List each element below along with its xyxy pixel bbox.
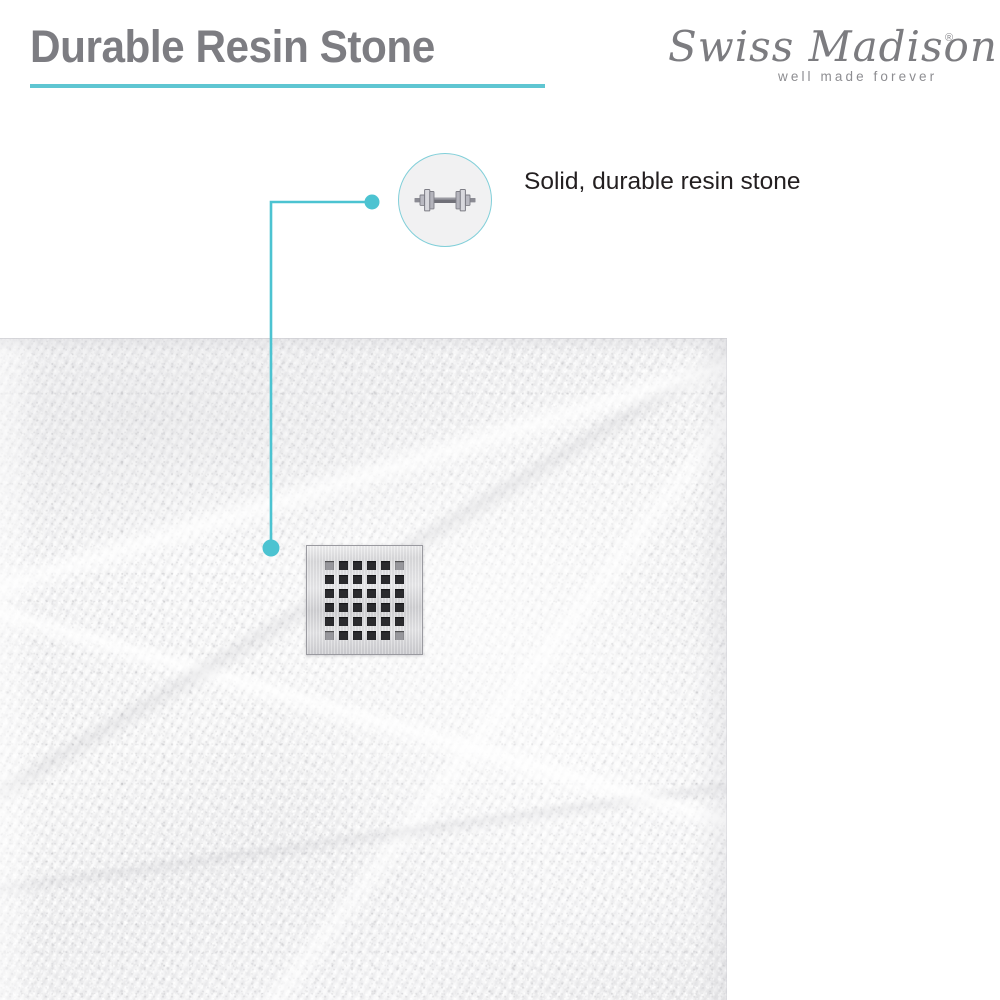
stone-grain-layer-a: [0, 338, 727, 1000]
drain-hole: [381, 617, 390, 626]
page-title: Durable Resin Stone: [30, 21, 435, 73]
drain-hole: [325, 575, 334, 584]
brand-name: Swiss Madison: [668, 22, 998, 71]
drain-hole: [353, 575, 362, 584]
drain-hole: [367, 603, 376, 612]
product-feature-graphic: Durable Resin Stone Swiss Madison ® well…: [0, 0, 1000, 1000]
brand-logo: Swiss Madison ® well made forever: [668, 22, 968, 90]
drain-hole-grid: [325, 561, 404, 640]
drain-hole: [339, 617, 348, 626]
drain-hole: [339, 575, 348, 584]
drain-hole: [395, 575, 404, 584]
drain-hole: [381, 589, 390, 598]
stone-right-edge: [726, 338, 727, 1000]
drain-hole: [325, 631, 334, 640]
drain-hole: [381, 575, 390, 584]
drain-hole: [339, 631, 348, 640]
drain-hole: [395, 617, 404, 626]
brand-tagline: well made forever: [778, 69, 937, 84]
registered-trademark-icon: ®: [945, 32, 953, 44]
drain-hole: [325, 617, 334, 626]
drain-hole: [339, 589, 348, 598]
drain-hole: [353, 617, 362, 626]
stone-top-edge: [0, 338, 727, 339]
drain-hole: [367, 631, 376, 640]
stone-grain-layer-b: [0, 338, 727, 1000]
drain-hole: [367, 589, 376, 598]
drain-hole: [367, 617, 376, 626]
drain-hole: [353, 589, 362, 598]
stone-grain-layer-c: [0, 338, 727, 1000]
title-underline-rule: [30, 84, 545, 88]
drain-hole: [395, 589, 404, 598]
stone-vein-layer: [0, 338, 727, 1000]
drain-hole: [339, 603, 348, 612]
drain-hole: [395, 631, 404, 640]
drain-hole: [367, 575, 376, 584]
drain-hole: [353, 603, 362, 612]
leader-dot-icon-end: [365, 195, 380, 210]
drain-hole: [353, 631, 362, 640]
drain-hole: [381, 561, 390, 570]
drain-hole: [325, 603, 334, 612]
drain-hole: [325, 589, 334, 598]
callout-label: Solid, durable resin stone: [524, 168, 800, 196]
drain-hole: [395, 603, 404, 612]
callout-badge: [398, 153, 492, 247]
stone-bevel-shading: [0, 338, 727, 1000]
drain-hole: [381, 603, 390, 612]
drain-hole: [367, 561, 376, 570]
dumbbell-icon: [413, 183, 477, 217]
drain-hole: [325, 561, 334, 570]
drain-hole: [395, 561, 404, 570]
drain-hole: [339, 561, 348, 570]
resin-stone-surface: [0, 338, 727, 1000]
drain-hole: [353, 561, 362, 570]
square-drain-grate: [306, 545, 423, 655]
drain-hole: [381, 631, 390, 640]
